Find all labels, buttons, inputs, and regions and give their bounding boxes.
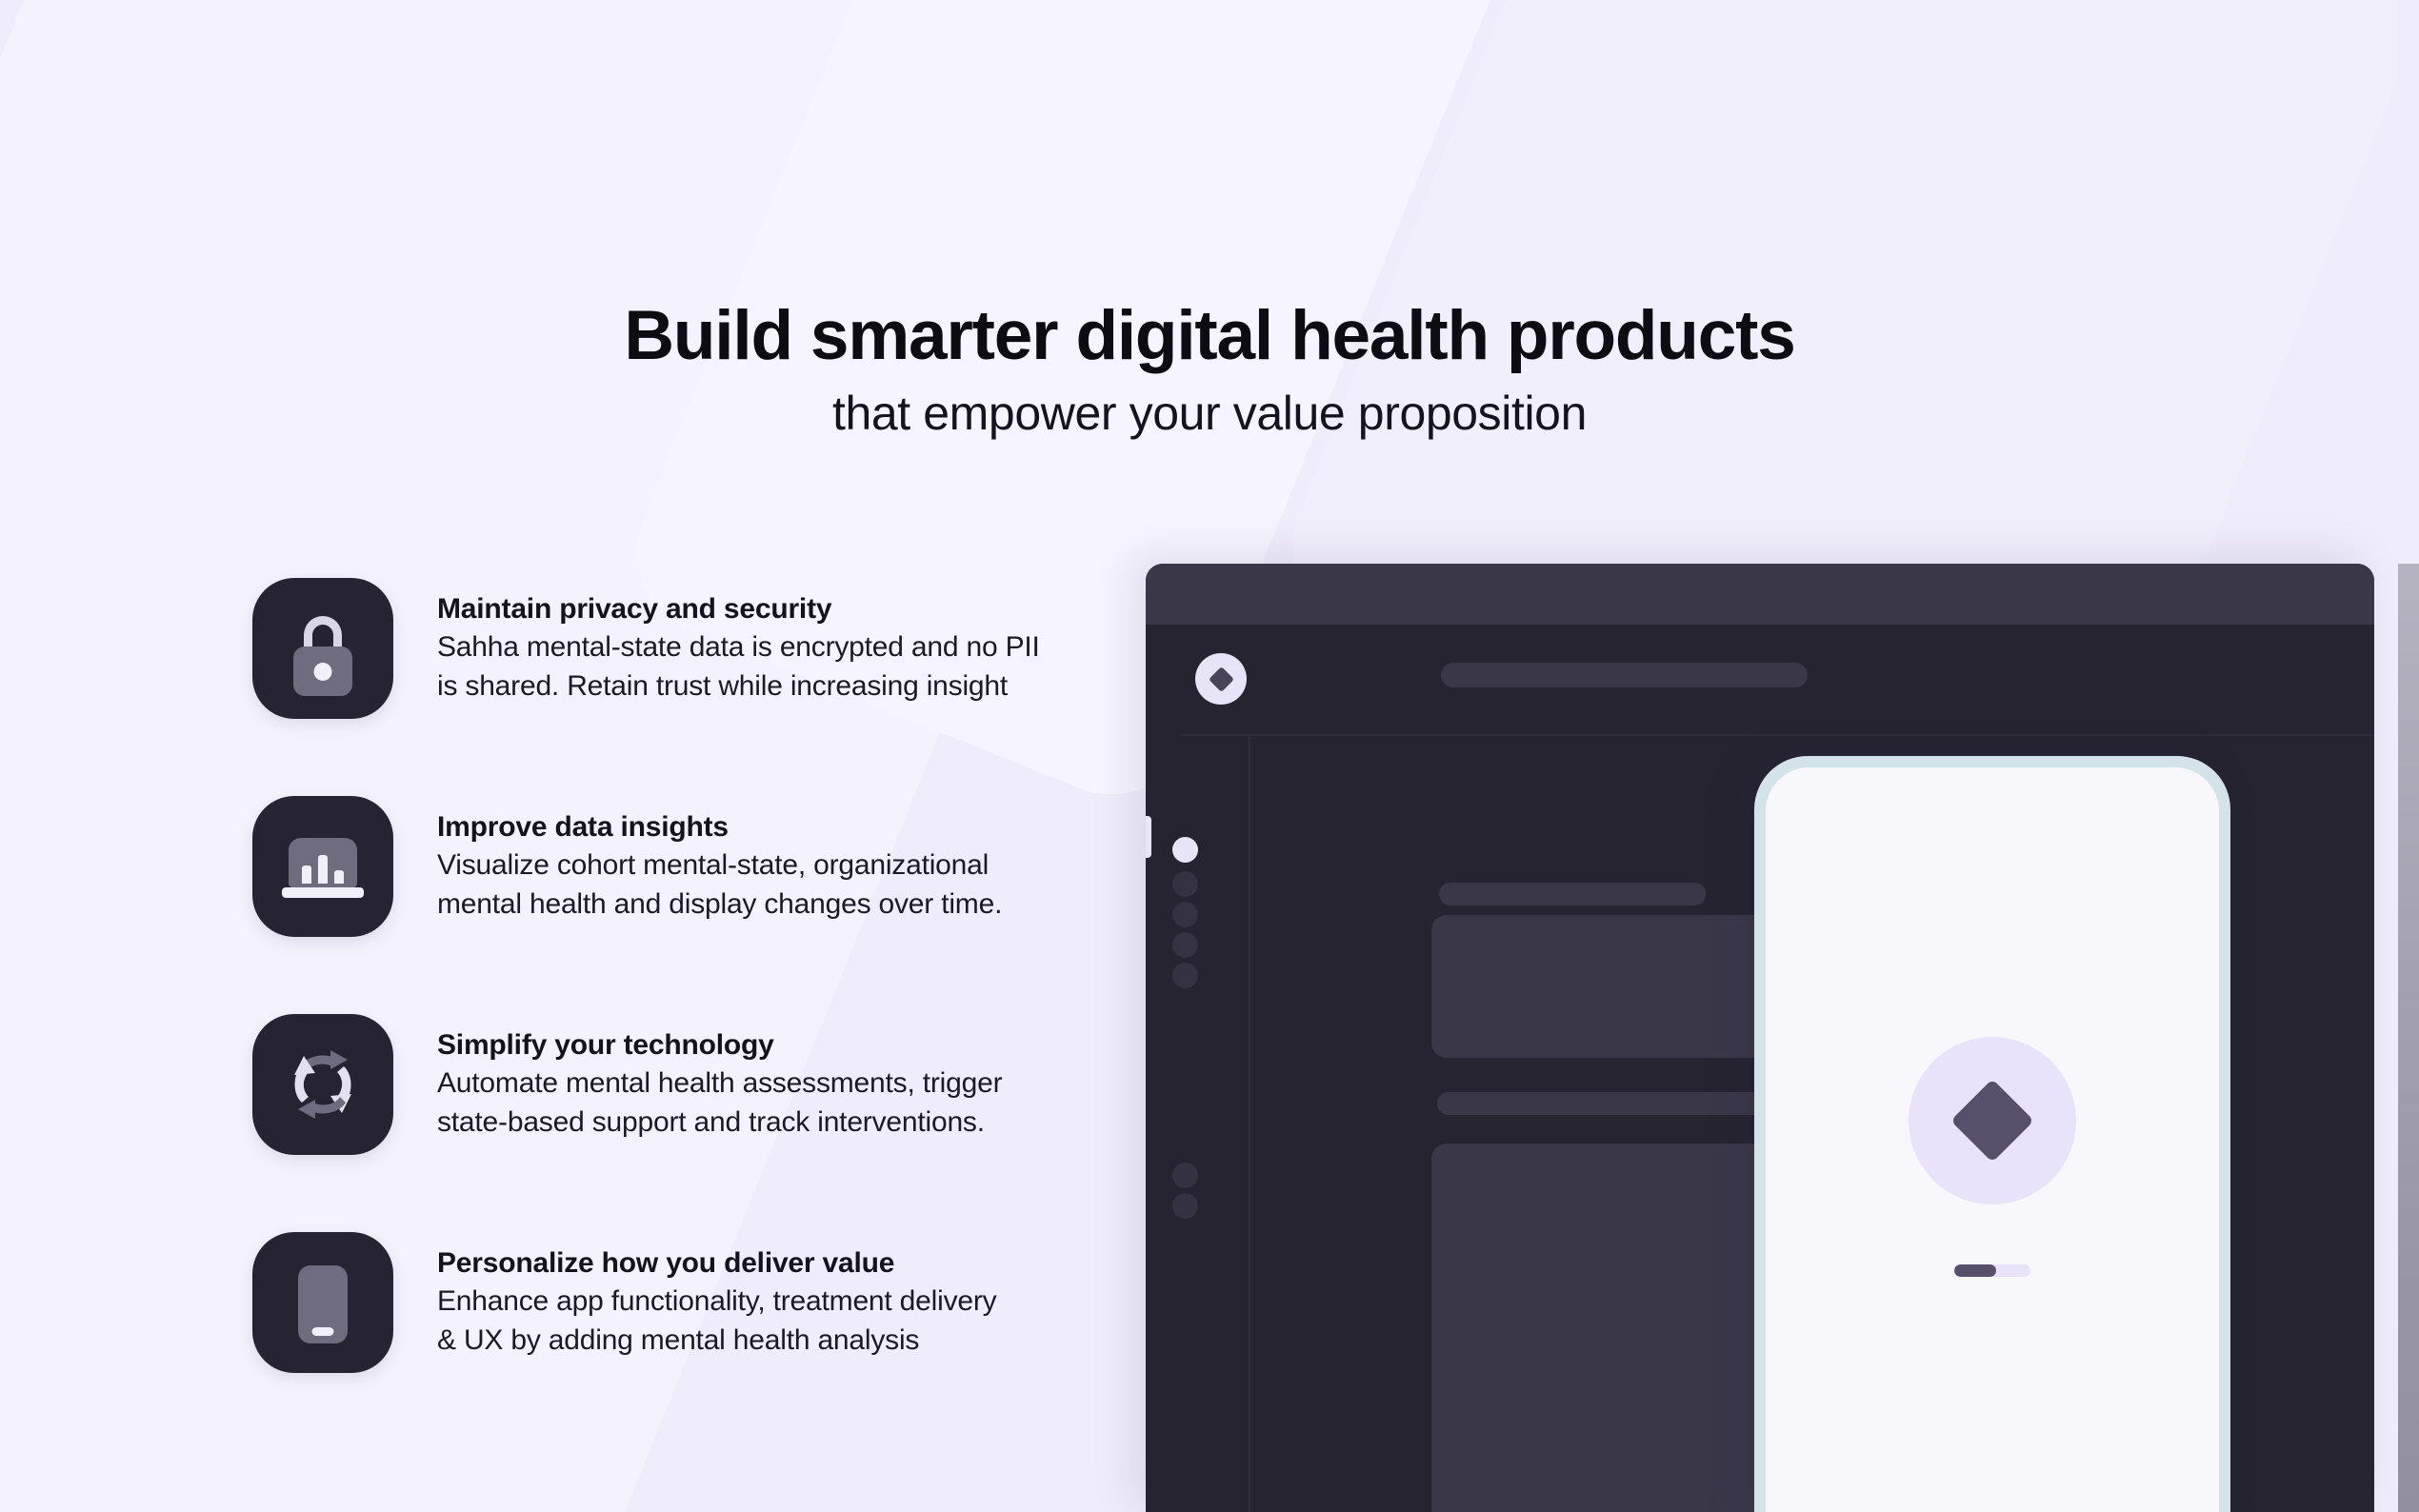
chart-bar-icon xyxy=(318,855,328,884)
sidebar-item-2[interactable] xyxy=(1172,871,1198,897)
sidebar-edge-tab[interactable] xyxy=(1146,816,1151,858)
feature-title: Maintain privacy and security xyxy=(437,591,1040,627)
sync-arrows-glyph xyxy=(252,1014,393,1155)
feature-description-line: Enhance app functionality, treatment del… xyxy=(437,1283,996,1320)
phone-home-bar-icon xyxy=(312,1327,334,1336)
list-item: Improve data insights Visualize cohort m… xyxy=(252,796,1043,937)
chart-panel-icon xyxy=(289,838,357,887)
loading-progress-bar xyxy=(1954,1264,2030,1277)
mobile-phone-icon xyxy=(252,1232,393,1373)
feature-title: Personalize how you deliver value xyxy=(437,1245,996,1282)
diamond-glyph xyxy=(1209,666,1234,692)
feature-description-line: Automate mental health assessments, trig… xyxy=(437,1065,1002,1102)
sidebar-item-6[interactable] xyxy=(1172,1163,1198,1188)
feature-text-block: Simplify your technology Automate mental… xyxy=(393,1014,1002,1141)
skeleton-subtitle-bar xyxy=(1439,883,1706,905)
sync-arrows-icon xyxy=(252,1014,393,1155)
chart-bar-icon xyxy=(302,865,311,884)
loading-progress-fill xyxy=(1954,1264,1996,1277)
dashboard-sidebar xyxy=(1146,736,1249,1512)
feature-text-block: Maintain privacy and security Sahha ment… xyxy=(393,578,1040,705)
sidebar-item-7[interactable] xyxy=(1172,1193,1198,1219)
feature-title: Improve data insights xyxy=(437,809,1002,846)
hero-heading-block: Build smarter digital health products th… xyxy=(0,301,2419,437)
feature-description-line: mental health and display changes over t… xyxy=(437,886,1002,923)
feature-text-block: Improve data insights Visualize cohort m… xyxy=(393,796,1002,923)
feature-description-line: Sahha mental-state data is encrypted and… xyxy=(437,629,1040,666)
dashboard-topbar xyxy=(1146,564,2374,625)
sidebar-item-4[interactable] xyxy=(1172,932,1198,958)
diamond-logo-icon xyxy=(1909,1037,2076,1204)
feature-description-line: is shared. Retain trust while increasing… xyxy=(437,668,1040,705)
feature-description-line: state-based support and track interventi… xyxy=(437,1104,1002,1141)
bar-chart-icon xyxy=(252,796,393,937)
feature-description-line: Visualize cohort mental-state, organizat… xyxy=(437,847,1002,884)
list-item: Maintain privacy and security Sahha ment… xyxy=(252,578,1043,719)
sidebar-item-1[interactable] xyxy=(1172,837,1198,863)
phone-screen xyxy=(1766,767,2219,1512)
sidebar-item-5[interactable] xyxy=(1172,963,1198,988)
right-edge-scrollbar[interactable] xyxy=(2398,564,2419,1512)
chart-baseline-icon xyxy=(282,887,364,898)
feature-list: Maintain privacy and security Sahha ment… xyxy=(252,578,1043,1373)
feature-title: Simplify your technology xyxy=(437,1027,1002,1064)
promotional-hero-page: Build smarter digital health products th… xyxy=(0,0,2419,1512)
list-item: Personalize how you deliver value Enhanc… xyxy=(252,1232,1043,1373)
page-title: Build smarter digital health products xyxy=(0,301,2419,370)
list-item: Simplify your technology Automate mental… xyxy=(252,1014,1043,1155)
feature-description-line: & UX by adding mental health analysis xyxy=(437,1323,996,1359)
skeleton-row-bar xyxy=(1437,1092,1791,1115)
sidebar-item-3[interactable] xyxy=(1172,902,1198,927)
phone-mockup xyxy=(1754,756,2230,1512)
diamond-glyph xyxy=(1950,1079,2034,1163)
feature-text-block: Personalize how you deliver value Enhanc… xyxy=(393,1232,996,1359)
right-edge-background xyxy=(2398,0,2419,564)
skeleton-header-bar xyxy=(1441,663,1808,687)
page-subtitle: that empower your value proposition xyxy=(0,389,2419,437)
chart-bar-icon xyxy=(334,870,344,884)
lock-icon xyxy=(252,578,393,719)
lock-keyhole-icon xyxy=(314,663,332,681)
diamond-logo-icon[interactable] xyxy=(1195,653,1247,705)
